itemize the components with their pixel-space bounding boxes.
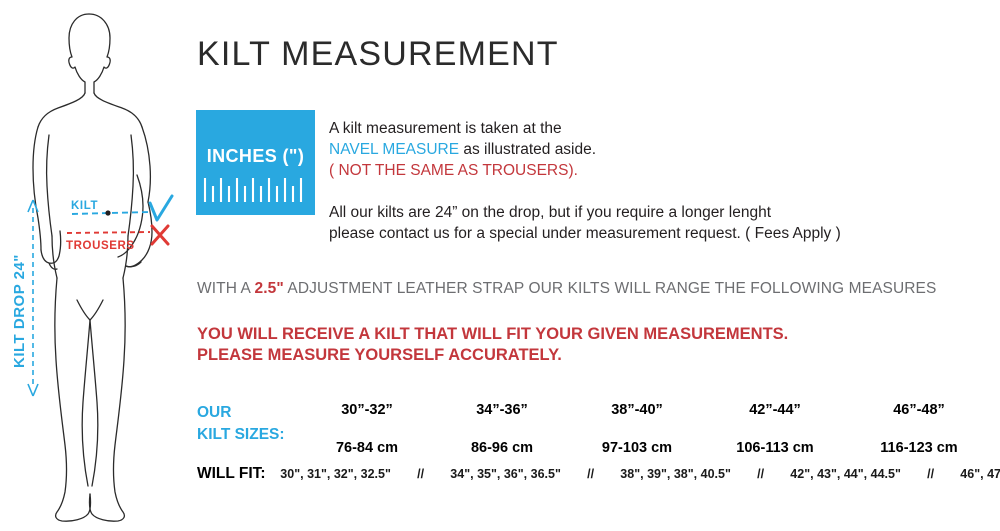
size-cm-2: 86-96 cm xyxy=(427,418,577,456)
will-fit-separator-2: // xyxy=(576,467,606,481)
will-fit-separator-4: // xyxy=(916,467,946,481)
size-cm-1: 76-84 cm xyxy=(292,418,442,456)
size-column-1: 30”-32” 76-84 cm xyxy=(292,398,442,456)
content-area: KILT MEASUREMENT INCHES (") xyxy=(196,0,1000,531)
page-title: KILT MEASUREMENT xyxy=(197,35,559,74)
kilt-line-label: KILT xyxy=(71,200,98,212)
kilt-drop-arrow xyxy=(28,200,38,396)
kilt-measure-line xyxy=(72,212,150,214)
size-column-5: 46”-48” 116-123 cm xyxy=(844,398,994,456)
kilt-measurement-infographic: KILT TROUSERS KILT DROP 24" KILT MEASURE… xyxy=(0,0,1000,531)
will-fit-values-2: 34", 35", 36", 36.5" xyxy=(436,467,576,481)
ruler-ticks-icon xyxy=(202,177,309,203)
navel-point-marker xyxy=(105,210,110,215)
drop-note-line-1: All our kilts are 24” on the drop, but i… xyxy=(329,202,841,223)
check-mark-icon xyxy=(150,196,172,220)
body-illustration-panel: KILT TROUSERS KILT DROP 24" xyxy=(0,0,195,531)
navel-measure-paragraph: A kilt measurement is taken at the NAVEL… xyxy=(329,118,596,181)
strap-line-after: ADJUSTMENT LEATHER STRAP OUR KILTS WILL … xyxy=(284,280,937,297)
size-column-3: 38”-40” 97-103 cm xyxy=(562,398,712,456)
trousers-measure-line xyxy=(67,232,150,233)
kilt-drop-label: KILT DROP 24" xyxy=(11,254,28,368)
size-column-2: 34”-36” 86-96 cm xyxy=(427,398,577,456)
size-inches-3: 38”-40” xyxy=(562,398,712,418)
will-fit-row: WILL FIT:30", 31", 32", 32.5"//34", 35",… xyxy=(197,465,1000,483)
navel-line-2-rest: as illustrated aside. xyxy=(459,141,596,158)
trousers-line-label: TROUSERS xyxy=(66,240,135,252)
will-fit-values-5: 46", 47", 48", 48.5" xyxy=(946,467,1000,481)
size-table-heading: OUR KILT SIZES: xyxy=(197,402,285,446)
warning-line-1: YOU WILL RECEIVE A KILT THAT WILL FIT YO… xyxy=(197,324,788,345)
size-heading-line-2: KILT SIZES: xyxy=(197,424,285,446)
size-heading-line-1: OUR xyxy=(197,402,285,424)
size-cm-4: 106-113 cm xyxy=(700,418,850,456)
size-cm-3: 97-103 cm xyxy=(562,418,712,456)
size-column-4: 42”-44” 106-113 cm xyxy=(700,398,850,456)
drop-note-paragraph: All our kilts are 24” on the drop, but i… xyxy=(329,202,841,244)
cross-mark-icon xyxy=(152,226,168,244)
strap-line-before: WITH A xyxy=(197,280,255,297)
strap-adjustment-value: 2.5" xyxy=(255,280,284,297)
size-inches-2: 34”-36” xyxy=(427,398,577,418)
will-fit-values-3: 38", 39", 38", 40.5" xyxy=(606,467,746,481)
drop-note-line-2: please contact us for a special under me… xyxy=(329,223,841,244)
will-fit-separator-3: // xyxy=(746,467,776,481)
accuracy-warning: YOU WILL RECEIVE A KILT THAT WILL FIT YO… xyxy=(197,324,788,366)
inches-card: INCHES (") xyxy=(196,110,315,215)
will-fit-label: WILL FIT: xyxy=(197,465,266,483)
will-fit-separator-1: // xyxy=(406,467,436,481)
navel-line-2: NAVEL MEASURE as illustrated aside. xyxy=(329,139,596,160)
inches-card-label: INCHES (") xyxy=(196,146,315,167)
will-fit-values-4: 42", 43", 44", 44.5" xyxy=(776,467,916,481)
will-fit-values-1: 30", 31", 32", 32.5" xyxy=(266,467,406,481)
not-trousers-note: ( NOT THE SAME AS TROUSERS). xyxy=(329,160,596,181)
warning-line-2: PLEASE MEASURE YOURSELF ACCURATELY. xyxy=(197,345,788,366)
size-cm-5: 116-123 cm xyxy=(844,418,994,456)
male-body-outline-icon: KILT TROUSERS KILT DROP 24" xyxy=(0,0,195,531)
navel-measure-highlight: NAVEL MEASURE xyxy=(329,141,459,158)
size-inches-1: 30”-32” xyxy=(292,398,442,418)
size-inches-4: 42”-44” xyxy=(700,398,850,418)
navel-line-1: A kilt measurement is taken at the xyxy=(329,118,596,139)
size-inches-5: 46”-48” xyxy=(844,398,994,418)
strap-range-line: WITH A 2.5" ADJUSTMENT LEATHER STRAP OUR… xyxy=(197,280,936,298)
